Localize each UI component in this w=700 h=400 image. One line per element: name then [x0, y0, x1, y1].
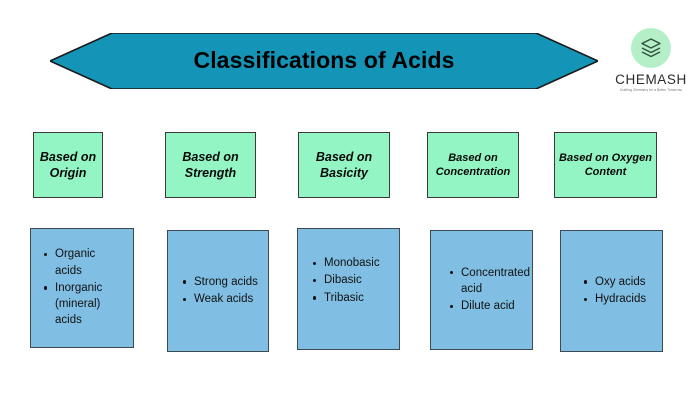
list-item: Inorganic (mineral) acids	[41, 280, 125, 329]
bullet-list: Oxy acids Hydracids	[561, 274, 662, 309]
title-banner: Classifications of Acids	[50, 33, 598, 89]
list-item: Dibasic	[310, 272, 393, 288]
brand-name: CHEMASH	[615, 72, 687, 87]
list-item: Organic acids	[41, 246, 125, 279]
slide-canvas: Classifications of Acids CHEMASH Craftin…	[0, 0, 700, 400]
page-title: Classifications of Acids	[50, 33, 598, 89]
list-item: Strong acids	[180, 274, 262, 290]
stacked-layers-icon	[631, 28, 671, 68]
bullet-list: Concentrated acid Dilute acid	[431, 265, 536, 316]
list-item: Oxy acids	[581, 274, 656, 290]
list-item: Tribasic	[310, 290, 393, 306]
category-header-label: Based on Origin	[38, 149, 98, 182]
category-body-origin: Organic acids Inorganic (mineral) acids	[30, 228, 134, 348]
list-item: Hydracids	[581, 291, 656, 307]
list-item: Monobasic	[310, 255, 393, 271]
category-header-origin: Based on Origin	[33, 132, 103, 198]
list-item: Weak acids	[180, 291, 262, 307]
bullet-list: Monobasic Dibasic Tribasic	[298, 229, 399, 307]
brand-logo: CHEMASH Crafting Chemistry for a Better …	[608, 28, 694, 104]
category-body-basicity: Monobasic Dibasic Tribasic	[297, 228, 400, 350]
category-body-concentration: Concentrated acid Dilute acid	[430, 230, 533, 350]
category-header-label: Based on Concentration	[432, 151, 514, 180]
category-header-label: Based on Basicity	[303, 149, 385, 182]
category-header-label: Based on Oxygen Content	[559, 151, 652, 180]
category-header-basicity: Based on Basicity	[298, 132, 390, 198]
category-header-strength: Based on Strength	[165, 132, 256, 198]
brand-tagline: Crafting Chemistry for a Better Tomorrow	[620, 88, 682, 92]
category-header-oxygen-content: Based on Oxygen Content	[554, 132, 657, 198]
bullet-list: Organic acids Inorganic (mineral) acids	[31, 246, 133, 330]
category-body-strength: Strong acids Weak acids	[167, 230, 269, 352]
category-header-concentration: Based on Concentration	[427, 132, 519, 198]
category-body-oxygen-content: Oxy acids Hydracids	[560, 230, 663, 352]
list-item: Dilute acid	[447, 298, 530, 314]
category-header-label: Based on Strength	[170, 149, 251, 182]
list-item: Concentrated acid	[447, 265, 530, 298]
bullet-list: Strong acids Weak acids	[168, 274, 268, 309]
